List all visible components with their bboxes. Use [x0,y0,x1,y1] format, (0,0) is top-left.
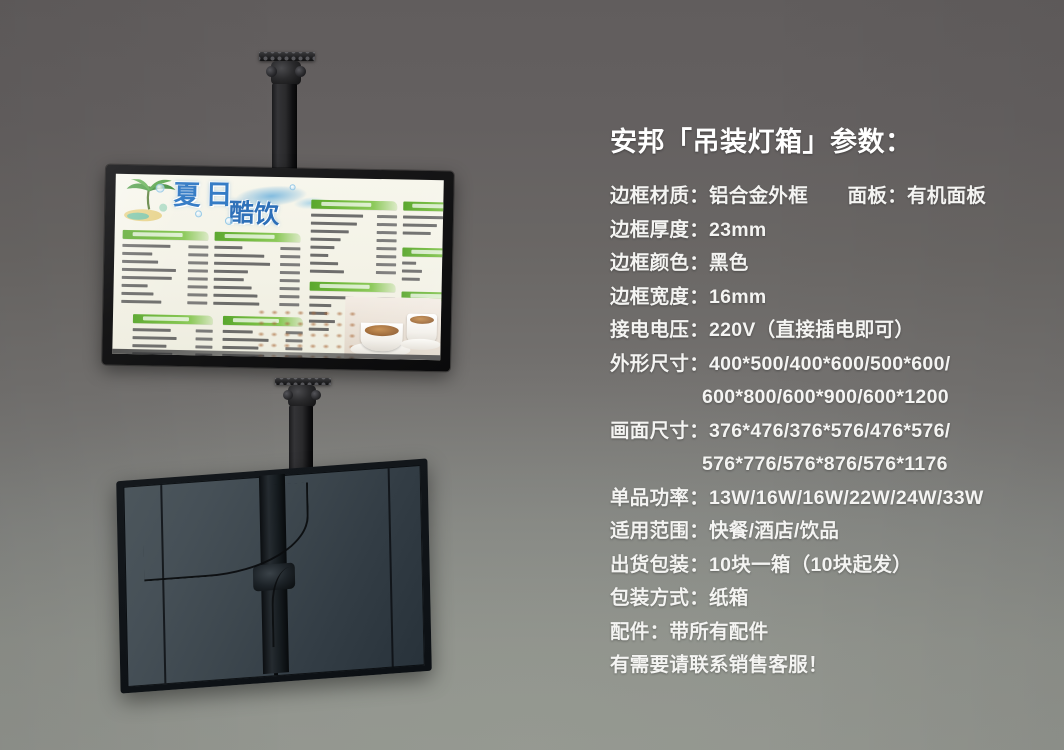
spec-line: 出货包装：10块一箱（10块起发） [610,549,1056,583]
spec-line: 600*800/600*900/600*1200 [610,381,1056,415]
spec-line: 边框厚度：23mm [610,214,1056,248]
spec-list: 边框材质：铝合金外框 面板：有机面板边框厚度：23mm边框颜色：黑色边框宽度：1… [610,180,1056,683]
spec-line: 外形尺寸：400*500/400*600/500*600/ [610,348,1056,382]
rear-panel-frame [116,458,432,693]
power-cable-lower [271,565,314,647]
spec-line: 边框颜色：黑色 [610,247,1056,281]
spec-line: 边框材质：铝合金外框 面板：有机面板 [610,180,1056,214]
product-photo-stage: 夏 日 酷 饮 [0,0,1064,750]
panel-rail-right [388,468,394,666]
spec-line: 配件：带所有配件 [610,616,1056,650]
mount-plate-lower [275,378,331,385]
spec-line: 576*776/576*876/576*1176 [610,448,1056,482]
spec-line: 包装方式：纸箱 [610,582,1056,616]
spec-line: 适用范围：快餐/酒店/饮品 [610,515,1056,549]
spec-line: 边框宽度：16mm [610,281,1056,315]
swivel-knob-lower-left [283,390,293,400]
specification-panel: 安邦「吊装灯箱」参数： 边框材质：铝合金外框 面板：有机面板边框厚度：23mm边… [610,126,1056,683]
plate-holes-lower [275,378,331,385]
spec-line: 单品功率：13W/16W/16W/22W/24W/33W [610,482,1056,516]
spec-line: 有需要请联系销售客服！ [610,649,1056,683]
spec-title: 安邦「吊装灯箱」参数： [610,126,1056,158]
spec-line: 接电电压：220V（直接插电即可） [610,314,1056,348]
rear-panel-face [123,465,424,687]
spec-line: 画面尺寸：376*476/376*576/476*576/ [610,415,1056,449]
swivel-knob-lower-right [311,390,321,400]
lightbox-rear-panel [116,458,432,693]
